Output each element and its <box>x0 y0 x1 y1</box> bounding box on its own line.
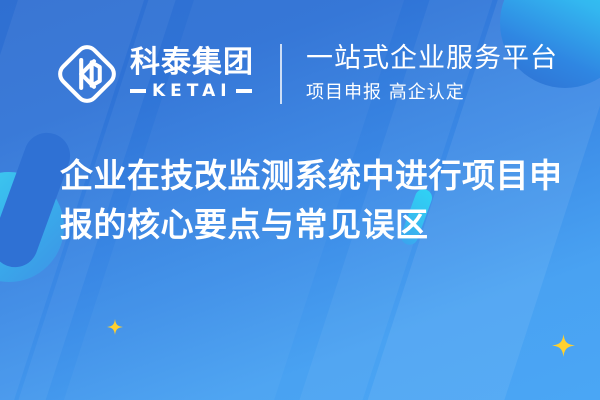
logo-wordmark: 科泰集团 KETAI <box>130 47 254 102</box>
banner-header: 科泰集团 KETAI 一站式企业服务平台 项目申报 高企认定 <box>58 38 558 110</box>
logo-company-en-row: KETAI <box>130 81 254 101</box>
sparkle-large-right-icon <box>552 334 575 357</box>
promo-banner: 科泰集团 KETAI 一站式企业服务平台 项目申报 高企认定 企业在技改监测系统… <box>0 0 600 400</box>
logo-rule-right <box>236 89 252 93</box>
header-divider <box>280 44 282 104</box>
sparkle-small-left-icon <box>107 319 123 335</box>
logo-company-en: KETAI <box>152 81 232 101</box>
tagline-block: 一站式企业服务平台 项目申报 高企认定 <box>306 44 558 104</box>
tagline-main: 一站式企业服务平台 <box>306 44 558 74</box>
tagline-sub: 项目申报 高企认定 <box>306 78 558 104</box>
page-title: 企业在技改监测系统中进行项目申报的核心要点与常见误区 <box>60 152 570 250</box>
logo-company-cn: 科泰集团 <box>130 47 254 79</box>
ketai-logo-icon <box>58 45 116 103</box>
logo-rule-left <box>130 89 146 93</box>
